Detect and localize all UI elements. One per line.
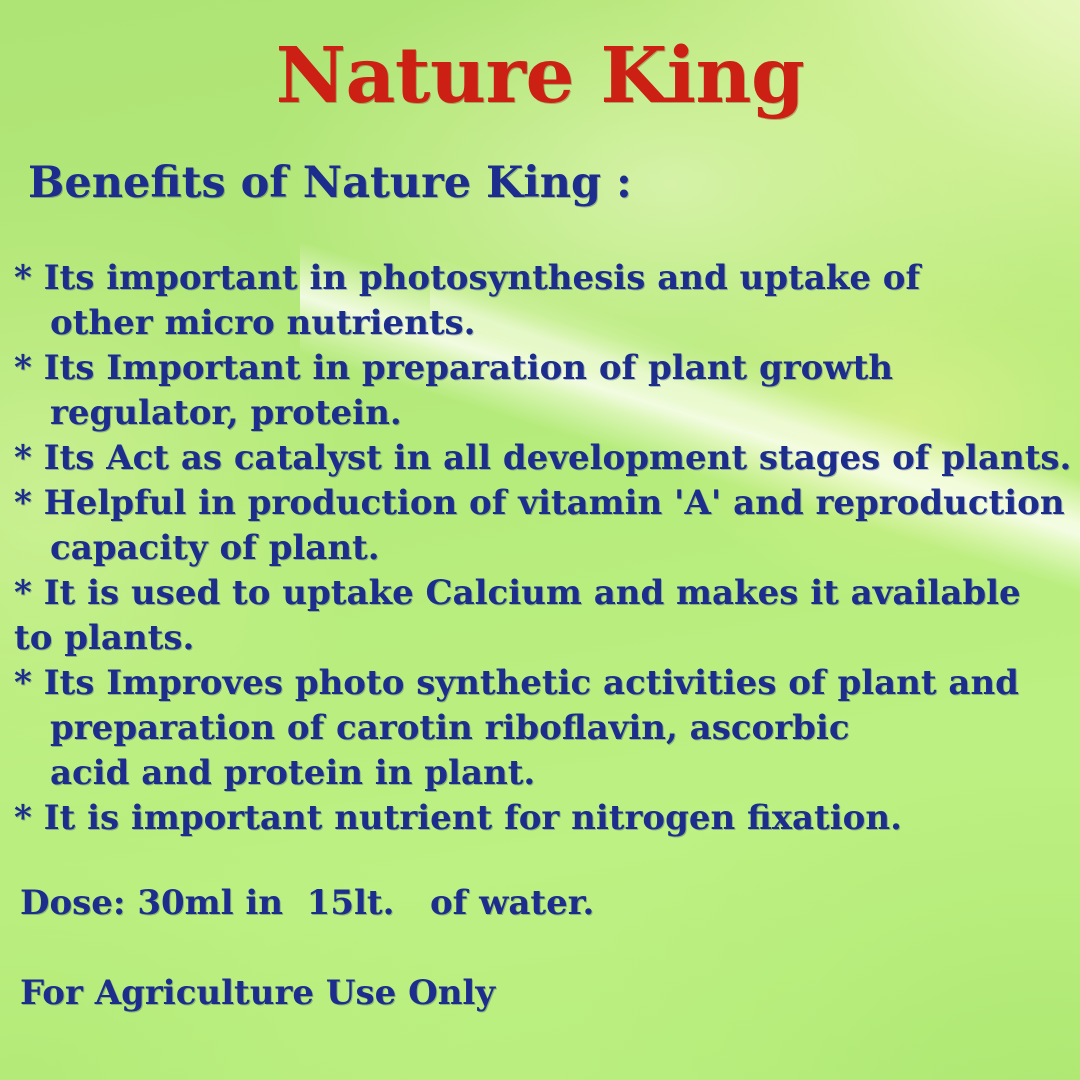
- benefit-line: preparation of carotin riboflavin, ascor…: [0, 706, 1080, 751]
- benefit-line: acid and protein in plant.: [0, 751, 1080, 796]
- benefit-line: * Its Act as catalyst in all development…: [0, 436, 1080, 481]
- benefit-line: * It is important nutrient for nitrogen …: [0, 796, 1080, 841]
- usage-restriction-note: For Agriculture Use Only: [20, 975, 495, 1012]
- product-title: Nature King: [0, 38, 1080, 115]
- benefit-line: * Helpful in production of vitamin 'A' a…: [0, 481, 1080, 526]
- benefit-line: regulator, protein.: [0, 391, 1080, 436]
- benefit-line: * Its Important in preparation of plant …: [0, 346, 1080, 391]
- poster-content: Nature King Benefits of Nature King : * …: [0, 0, 1080, 1080]
- benefit-line: to plants.: [0, 616, 1080, 661]
- benefit-line: * It is used to uptake Calcium and makes…: [0, 571, 1080, 616]
- product-label-poster: Nature King Benefits of Nature King : * …: [0, 0, 1080, 1080]
- benefits-heading: Benefits of Nature King :: [28, 160, 632, 207]
- benefits-list: * Its important in photosynthesis and up…: [0, 256, 1080, 841]
- benefit-line: * Its Improves photo synthetic activitie…: [0, 661, 1080, 706]
- benefit-line: other micro nutrients.: [0, 301, 1080, 346]
- dosage-instruction: Dose: 30ml in 15lt. of water.: [20, 885, 594, 922]
- benefit-line: * Its important in photosynthesis and up…: [0, 256, 1080, 301]
- benefit-line: capacity of plant.: [0, 526, 1080, 571]
